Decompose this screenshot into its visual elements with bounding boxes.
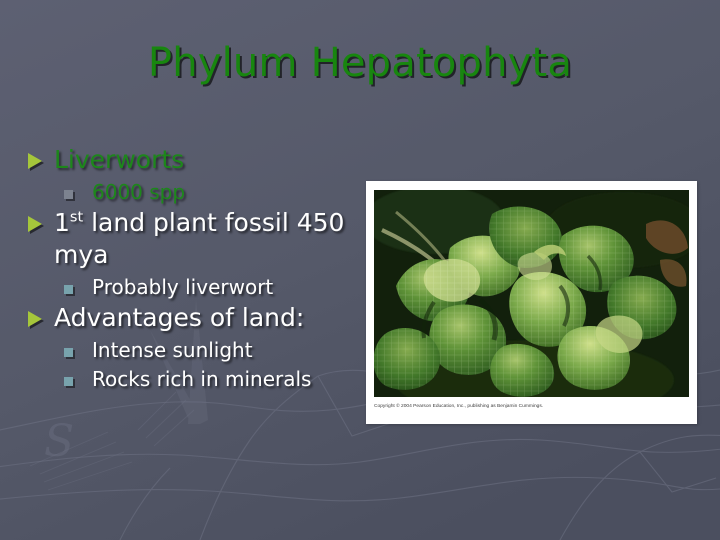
list-item: 6000 spp [28,178,358,206]
square-bullet-icon [64,273,92,294]
picture-frame: Copyright © 2004 Pearson Education, Inc.… [366,181,697,424]
list-item: Advantages of land: [28,302,358,334]
photo-caption: Copyright © 2004 Pearson Education, Inc.… [374,403,720,410]
list-item-label: 6000 spp [92,178,185,206]
list-item-label: Rocks rich in minerals [92,365,311,393]
ordinal-number: 1 [54,208,70,237]
presentation-slide: S Phylum Hepatophyta Liverworts 6000 spp… [0,0,720,540]
triangle-bullet-icon [28,302,50,327]
list-item: Probably liverwort [28,273,358,301]
triangle-bullet-icon [28,144,50,169]
list-item: Intense sunlight [28,336,358,364]
list-item-label-rest: land plant fossil 450 mya [54,208,344,269]
liverwort-photo [374,190,689,397]
list-item-label: 1st land plant fossil 450 mya [54,207,358,271]
square-bullet-icon [64,365,92,386]
svg-text:S: S [44,416,74,467]
list-item-label: Probably liverwort [92,273,273,301]
list-item-label: Intense sunlight [92,336,253,364]
triangle-bullet-icon [28,207,50,232]
slide-title: Phylum Hepatophyta [0,40,720,86]
list-item-label: Liverworts [54,144,184,176]
square-bullet-icon [64,336,92,357]
list-item: Rocks rich in minerals [28,365,358,393]
bullet-list: Liverworts 6000 spp 1st land plant fossi… [28,144,358,394]
square-bullet-icon [64,178,92,199]
list-item: 1st land plant fossil 450 mya [28,207,358,271]
list-item-label: Advantages of land: [54,302,304,334]
ordinal-suffix: st [70,210,83,226]
list-item: Liverworts [28,144,358,176]
